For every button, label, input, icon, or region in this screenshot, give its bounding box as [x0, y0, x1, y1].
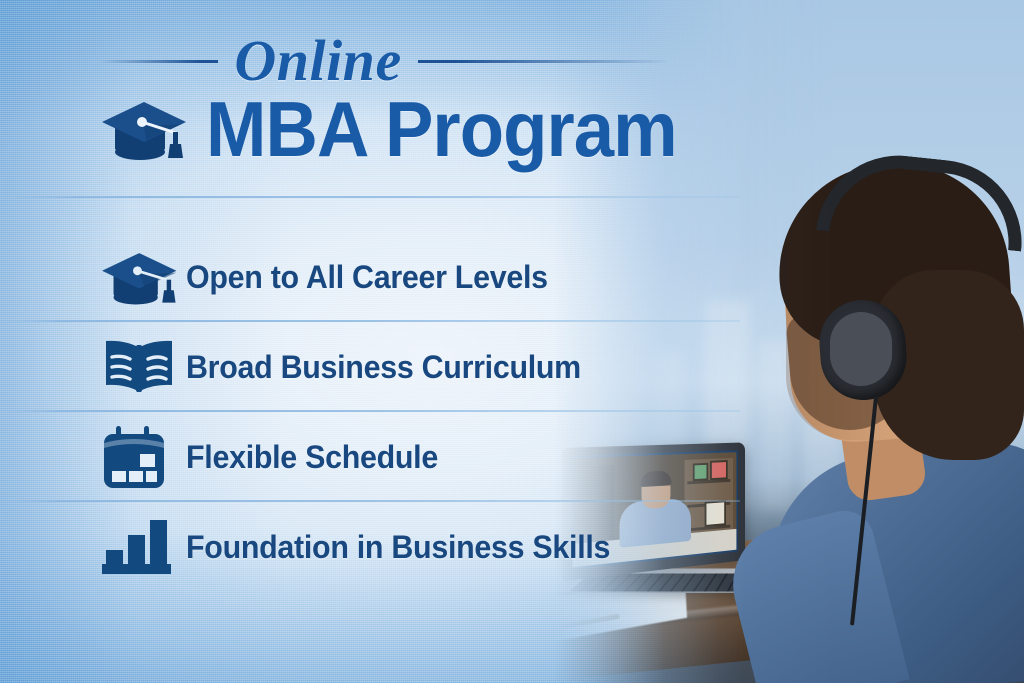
graduation-cap-icon	[100, 94, 192, 164]
header-divider	[0, 196, 740, 198]
feature-label: Foundation in Business Skills	[186, 529, 610, 566]
feature-label: Broad Business Curriculum	[186, 349, 581, 386]
main-title-row: MBA Program	[0, 90, 740, 168]
calendar-icon	[100, 424, 186, 490]
content-column: Online MBA Program	[0, 0, 760, 683]
feature-item-schedule: Flexible Schedule	[0, 412, 740, 502]
feature-label: Flexible Schedule	[186, 439, 438, 476]
graduation-cap-icon	[100, 246, 186, 308]
open-book-icon	[100, 336, 186, 398]
feature-item-career-levels: Open to All Career Levels	[0, 232, 740, 322]
promo-poster: Online MBA Program	[0, 0, 1024, 683]
feature-item-curriculum: Broad Business Curriculum	[0, 322, 740, 412]
main-title: MBA Program	[206, 90, 677, 168]
feature-item-business-skills: Foundation in Business Skills	[0, 502, 740, 592]
script-title: Online	[234, 32, 401, 90]
bar-chart-icon	[100, 518, 186, 576]
title-block: Online MBA Program	[0, 30, 740, 168]
script-title-row: Online	[0, 30, 740, 92]
title-rule-right	[418, 60, 670, 63]
feature-list: Open to All Career Levels	[0, 232, 740, 592]
title-rule-left	[100, 60, 218, 63]
feature-label: Open to All Career Levels	[186, 259, 548, 296]
